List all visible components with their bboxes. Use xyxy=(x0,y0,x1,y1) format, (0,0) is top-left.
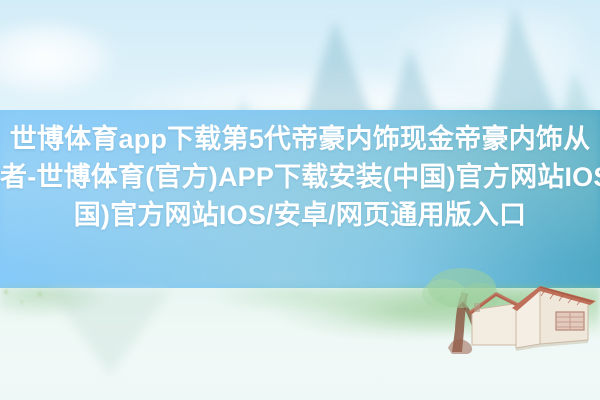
headline-line-3: 国)官方网站IOS/安卓/网页通用版入口 xyxy=(0,196,600,234)
cottage-front xyxy=(512,286,596,351)
headline: 世博体育app下载第5代帝豪内饰现金帝豪内饰从 者-世博体育(官方)APP下载安… xyxy=(0,120,600,234)
promo-banner: 世博体育app下载第5代帝豪内饰现金帝豪内饰从 者-世博体育(官方)APP下载安… xyxy=(0,0,600,400)
headline-line-1: 世博体育app下载第5代帝豪内饰现金帝豪内饰从 xyxy=(0,120,600,158)
headline-line-2: 者-世博体育(官方)APP下载安装(中国)官方网站IOS/安 xyxy=(0,158,600,196)
